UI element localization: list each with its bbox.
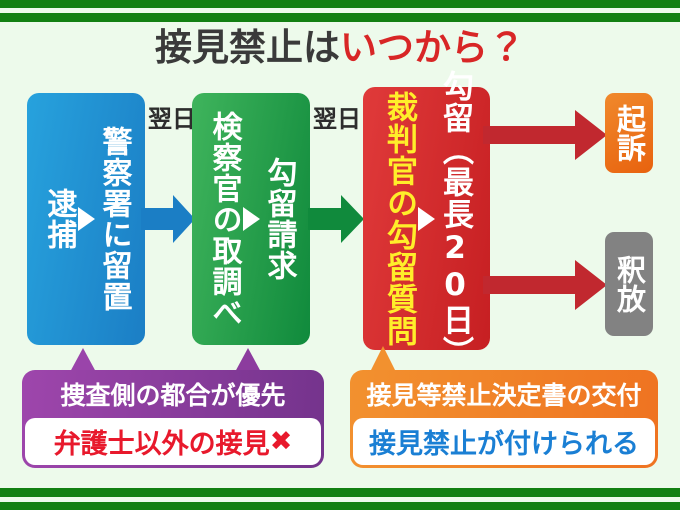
arrow-right-icon-green (308, 189, 364, 249)
pointer-up-icon-arrest (70, 348, 96, 372)
flow-step-judge-label-right: 勾留（最長20日） (439, 70, 470, 368)
page-title-primary: 接見禁止は (155, 26, 340, 69)
callout-investigation-priority-body-text: 弁護士以外の接見 (54, 422, 270, 461)
flow-step-prosecutor-label-right: 勾留請求 (264, 157, 294, 281)
outcome-indictment[interactable]: 起訴 (605, 93, 653, 173)
pointer-up-icon-prosecutor (235, 348, 261, 372)
outcome-release-label: 釈放 (615, 255, 644, 313)
callout-investigation-priority[interactable]: 捜査側の都合が優先 弁護士以外の接見✖ (22, 370, 324, 468)
bottom-border-bar-outer (0, 502, 680, 510)
outcome-release[interactable]: 釈放 (605, 232, 653, 336)
cross-mark-icon: ✖ (270, 426, 293, 457)
flow-step-arrest-label-left: 逮捕 (44, 188, 74, 250)
arrow-right-icon-blue (141, 189, 195, 249)
transition-label-day-1: 翌日 (148, 106, 188, 133)
page-title-accent: いつから？ (340, 26, 525, 69)
callout-ban-notice[interactable]: 接見等禁止決定書の交付 接見禁止が付けられる (350, 370, 658, 468)
callout-ban-notice-body: 接見禁止が付けられる (353, 418, 655, 465)
flow-step-judge-label-left: 裁判官の勾留質問 (383, 91, 414, 347)
top-border-bar-outer (0, 0, 680, 8)
callout-investigation-priority-body: 弁護士以外の接見✖ (25, 418, 321, 465)
flow-step-prosecutor-label-left: 検察官の取調べ (209, 111, 239, 328)
top-border-bar-inner (0, 13, 680, 22)
pointer-up-icon-judge (370, 346, 396, 372)
play-triangle-icon (78, 207, 95, 231)
flow-step-prosecutor[interactable]: 勾留請求 検察官の取調べ (192, 93, 310, 345)
play-triangle-icon (243, 207, 260, 231)
infographic-canvas: 接見禁止はいつから？ 警察署に留置 逮捕 翌日 勾留請求 検察官の取調べ 翌日 … (0, 0, 680, 510)
outcome-indictment-label: 起訴 (615, 104, 644, 162)
flow-step-arrest[interactable]: 警察署に留置 逮捕 (27, 93, 145, 345)
flow-step-judge[interactable]: 勾留（最長20日） 裁判官の勾留質問 (363, 87, 490, 350)
page-title: 接見禁止はいつから？ (0, 26, 680, 70)
bottom-border-bar-inner (0, 488, 680, 497)
transition-label-day-2: 翌日 (313, 106, 353, 133)
callout-ban-notice-head: 接見等禁止決定書の交付 (350, 370, 658, 418)
flow-step-arrest-label-right: 警察署に留置 (99, 126, 129, 312)
play-triangle-icon (418, 207, 435, 231)
arrow-right-icon-indict (483, 108, 607, 162)
arrow-right-icon-release (483, 258, 607, 312)
callout-ban-notice-body-text: 接見禁止が付けられる (369, 422, 639, 461)
callout-investigation-priority-head: 捜査側の都合が優先 (22, 370, 324, 418)
